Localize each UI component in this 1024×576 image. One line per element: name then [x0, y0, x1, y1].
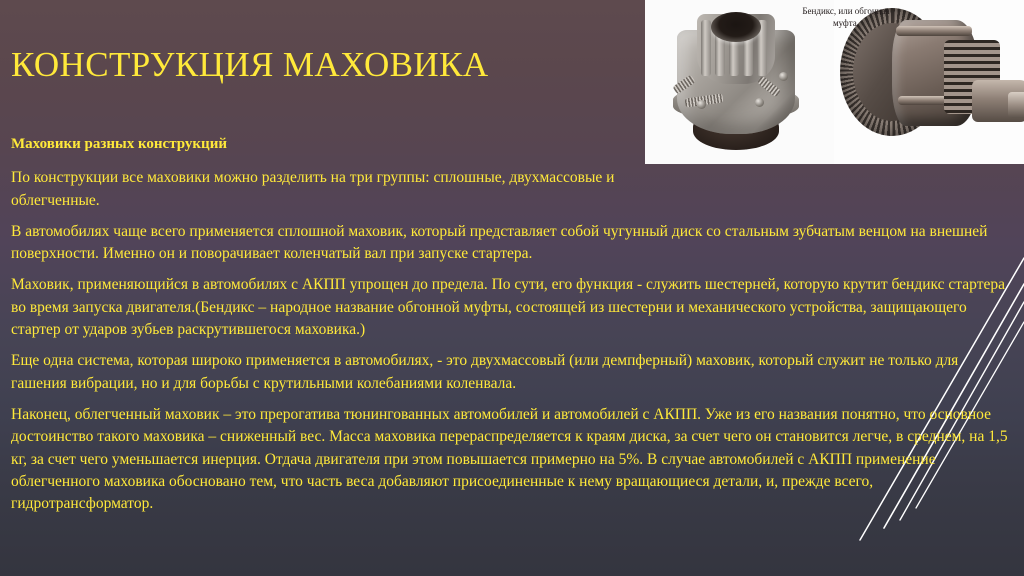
gear-tooth-icon [701, 20, 711, 76]
image-caption: Бендикс, или обгонная муфта. [791, 5, 901, 29]
paragraph-4: Еще одна система, которая широко применя… [11, 350, 1015, 395]
clutch-rivet-shape [779, 72, 788, 81]
paragraph-5: Наконец, облегченный маховик – это преро… [11, 404, 1015, 515]
presentation-slide: КОНСТРУКЦИЯ МАХОВИКА [0, 0, 1024, 576]
paragraph-2: В автомобилях чаще всего применяется спл… [11, 221, 1015, 266]
clutch-bore-shape [711, 12, 761, 42]
page-title: КОНСТРУКЦИЯ МАХОВИКА [11, 44, 631, 86]
slide-body: Маховики разных конструкций По конструкц… [11, 133, 1015, 524]
clutch-rivet-shape [697, 100, 706, 109]
drum-band-shape [896, 26, 972, 36]
paragraph-3: Маховик, применяющийся в автомобилях с А… [11, 274, 1015, 341]
clutch-rivet-shape [755, 98, 764, 107]
body-heading: Маховики разных конструкций [11, 133, 641, 155]
paragraph-1: По конструкции все маховики можно раздел… [11, 167, 641, 212]
shaft-tip-shape [1008, 92, 1024, 118]
